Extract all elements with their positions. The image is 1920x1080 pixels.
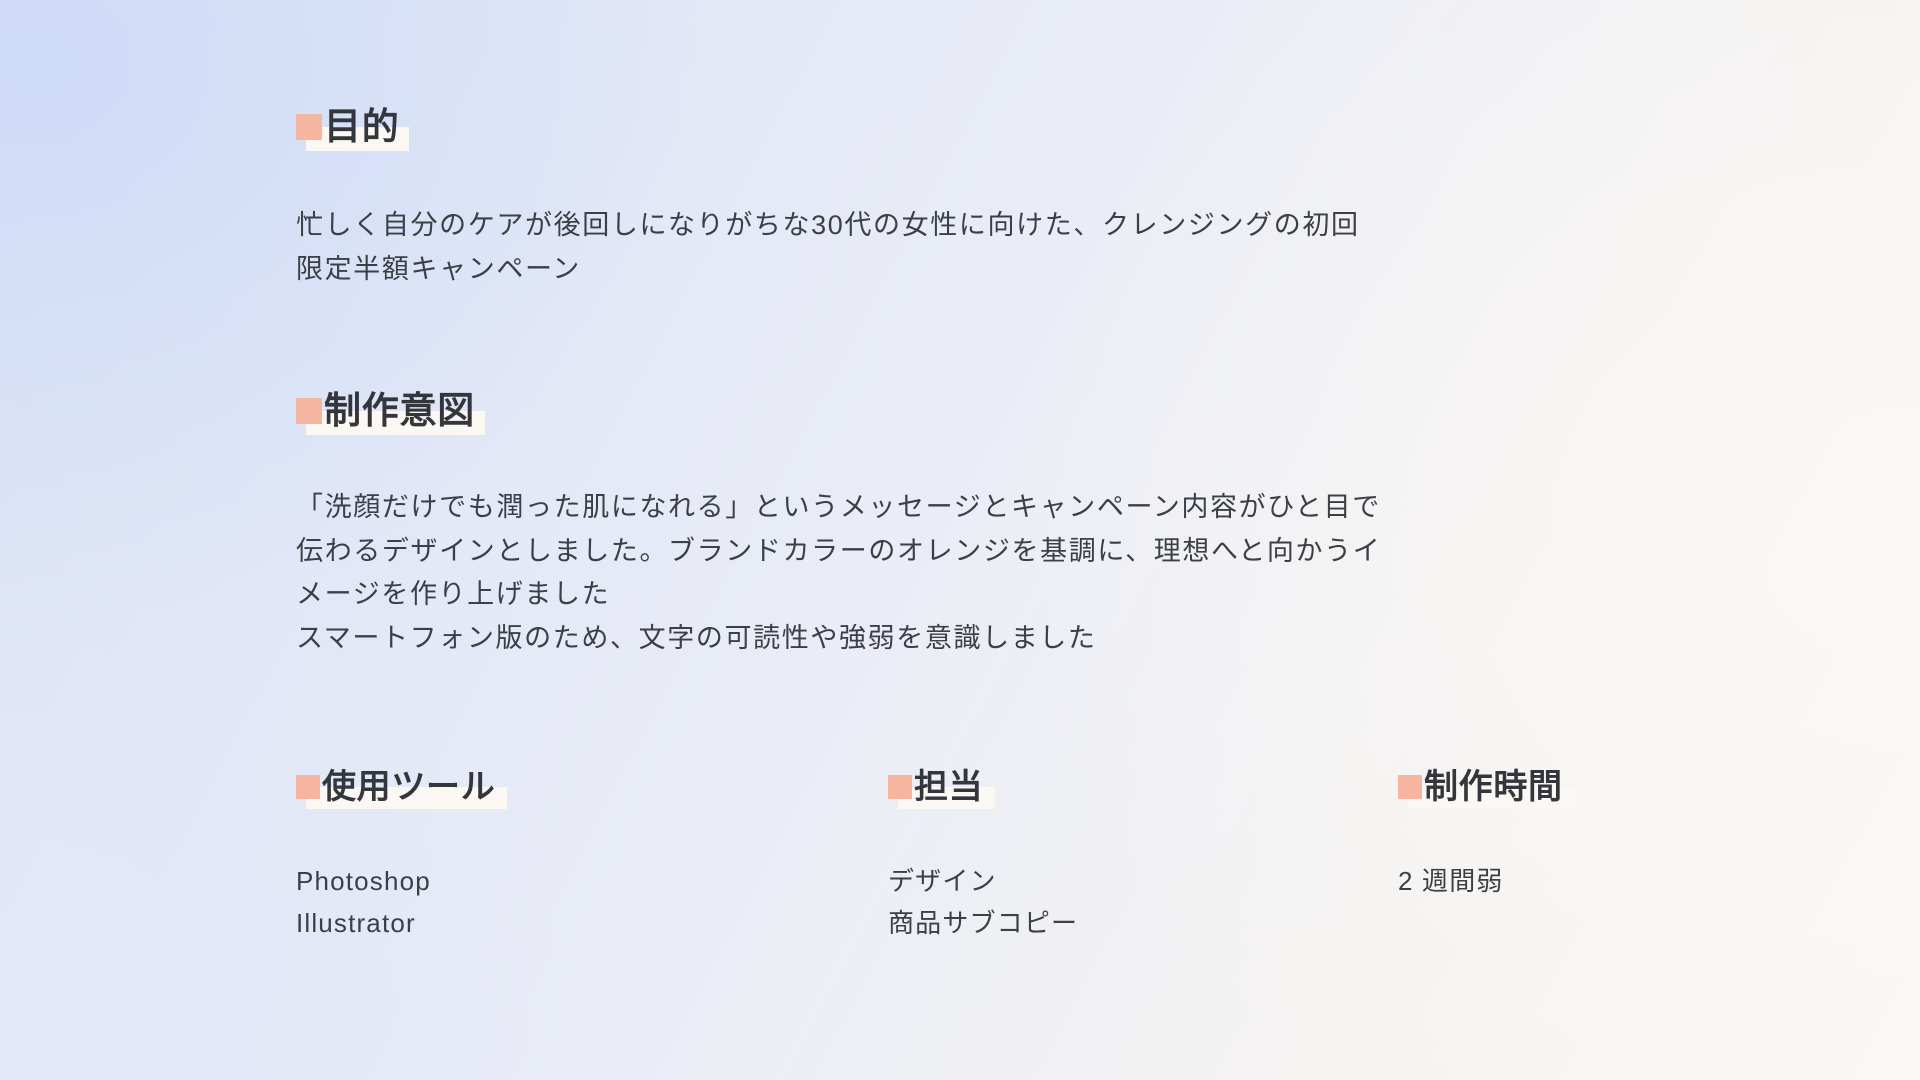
square-bullet-icon — [296, 114, 322, 140]
column-heading-tools: 使用ツール — [296, 770, 495, 804]
meta-column-duration: 制作時間 2 週間弱 — [1398, 770, 1563, 902]
column-heading-role: 担当 — [888, 770, 983, 804]
meta-column-role: 担当 デザイン 商品サブコピー — [888, 770, 1078, 944]
section-heading-intent: 制作意図 — [296, 392, 475, 429]
column-heading-label: 使用ツール — [322, 770, 495, 804]
meta-column-tools: 使用ツール Photoshop Illustrator — [296, 770, 495, 944]
slide-canvas: 目的 忙しく自分のケアが後回しになりがちな30代の女性に向けた、クレンジングの初… — [0, 0, 1920, 1080]
column-heading-label: 担当 — [914, 770, 983, 804]
column-body-role: デザイン 商品サブコピー — [888, 860, 1078, 944]
column-heading-duration: 制作時間 — [1398, 770, 1563, 804]
content-container: 目的 忙しく自分のケアが後回しになりがちな30代の女性に向けた、クレンジングの初… — [296, 0, 1716, 1080]
column-body-tools: Photoshop Illustrator — [296, 860, 495, 944]
square-bullet-icon — [296, 775, 320, 799]
column-body-duration: 2 週間弱 — [1398, 860, 1563, 902]
section-heading-purpose: 目的 — [296, 108, 399, 145]
section-heading-label: 制作意図 — [324, 392, 475, 429]
column-heading-label: 制作時間 — [1424, 770, 1563, 804]
section-body-purpose: 忙しく自分のケアが後回しになりがちな30代の女性に向けた、クレンジングの初回限定… — [296, 204, 1376, 291]
square-bullet-icon — [1398, 775, 1422, 799]
square-bullet-icon — [888, 775, 912, 799]
section-heading-label: 目的 — [324, 108, 399, 145]
section-body-intent: 「洗顔だけでも潤った肌になれる」というメッセージとキャンペーン内容がひと目で伝わ… — [296, 486, 1386, 661]
square-bullet-icon — [296, 398, 322, 424]
